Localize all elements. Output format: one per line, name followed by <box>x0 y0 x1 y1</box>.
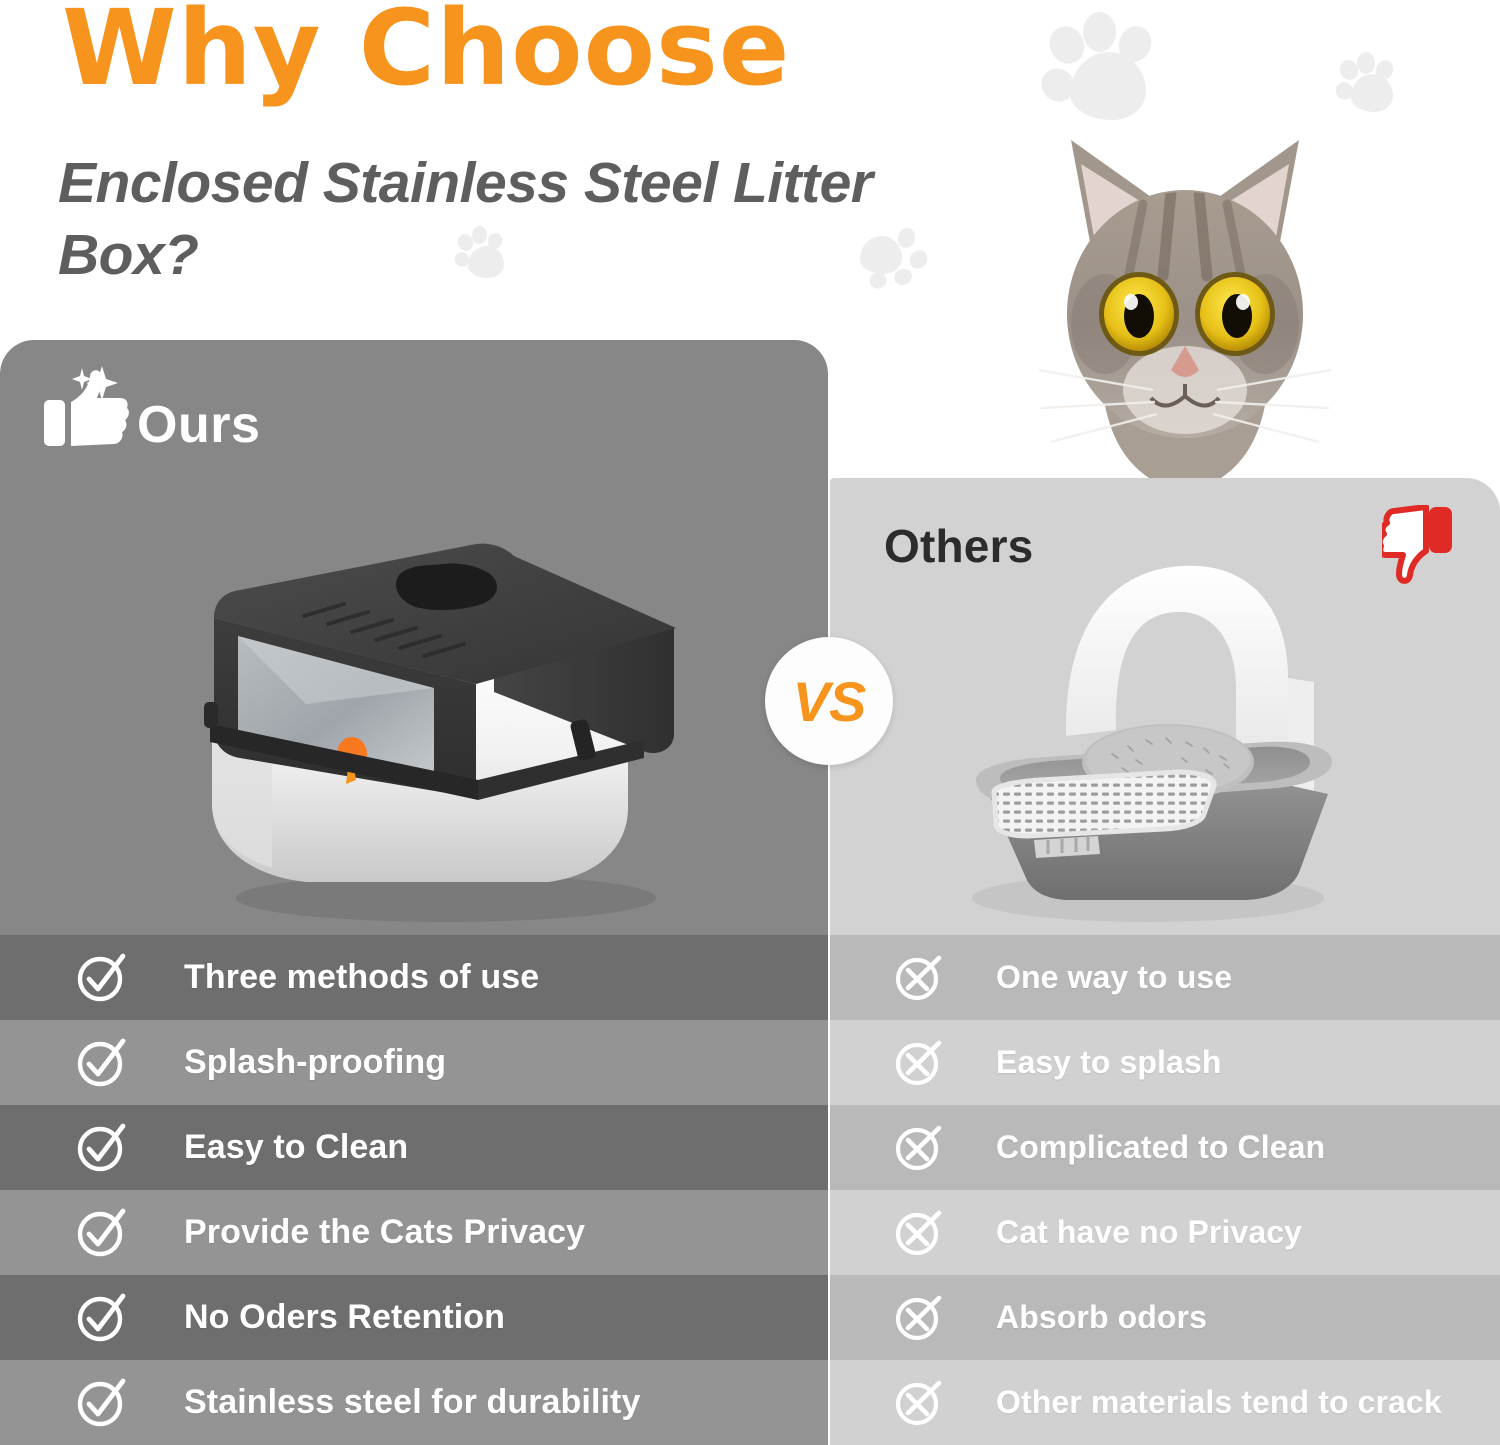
ours-product-image <box>176 452 694 930</box>
ours-label: Ours <box>137 395 260 455</box>
list-item: Easy to Clean <box>0 1105 828 1190</box>
thumbs-down-icon <box>1382 505 1454 587</box>
list-item-label: One way to use <box>996 959 1232 996</box>
list-item-label: No Oders Retention <box>184 1298 505 1337</box>
list-item-label: Stainless steel for durability <box>184 1383 640 1422</box>
page-title: Why Choose <box>62 0 790 103</box>
vs-badge: VS <box>765 637 893 765</box>
list-item: Complicated to Clean <box>830 1105 1500 1190</box>
x-circle-icon <box>894 953 944 1003</box>
list-item: Other materials tend to crack <box>830 1360 1500 1445</box>
check-circle-icon <box>76 1292 128 1344</box>
check-circle-icon <box>76 1037 128 1089</box>
x-circle-icon <box>894 1293 944 1343</box>
list-item-label: Three methods of use <box>184 958 539 997</box>
thumbs-up-icon <box>44 366 130 450</box>
paw-print-icon <box>858 228 928 290</box>
check-circle-icon <box>76 1377 128 1429</box>
list-item: Stainless steel for durability <box>0 1360 828 1445</box>
list-item: Three methods of use <box>0 935 828 1020</box>
check-circle-icon <box>76 1207 128 1259</box>
cat-photo <box>985 108 1385 498</box>
list-item: Absorb odors <box>830 1275 1500 1360</box>
vs-label: VS <box>793 669 866 734</box>
header: Why Choose Enclosed Stainless Steel Litt… <box>0 0 1500 340</box>
list-item: Cat have no Privacy <box>830 1190 1500 1275</box>
x-circle-icon <box>894 1208 944 1258</box>
others-feature-list: One way to use Easy to splash Complicate… <box>830 935 1500 1445</box>
list-item-label: Cat have no Privacy <box>996 1214 1302 1251</box>
paw-print-icon <box>457 226 519 282</box>
list-item-label: Easy to Clean <box>184 1128 408 1167</box>
list-item: No Oders Retention <box>0 1275 828 1360</box>
list-item-label: Other materials tend to crack <box>996 1384 1442 1421</box>
x-circle-icon <box>894 1038 944 1088</box>
list-item: Provide the Cats Privacy <box>0 1190 828 1275</box>
list-item-label: Easy to splash <box>996 1044 1222 1081</box>
list-item: Easy to splash <box>830 1020 1500 1105</box>
check-circle-icon <box>76 952 128 1004</box>
list-item-label: Complicated to Clean <box>996 1129 1325 1166</box>
x-circle-icon <box>894 1378 944 1428</box>
x-circle-icon <box>894 1123 944 1173</box>
check-circle-icon <box>76 1122 128 1174</box>
ours-feature-list: Three methods of use Splash-proofing Eas… <box>0 935 828 1445</box>
list-item-label: Splash-proofing <box>184 1043 446 1082</box>
list-item-label: Provide the Cats Privacy <box>184 1213 585 1252</box>
list-item: One way to use <box>830 935 1500 1020</box>
others-product-image <box>936 548 1348 930</box>
list-item: Splash-proofing <box>0 1020 828 1105</box>
list-item-label: Absorb odors <box>996 1299 1207 1336</box>
